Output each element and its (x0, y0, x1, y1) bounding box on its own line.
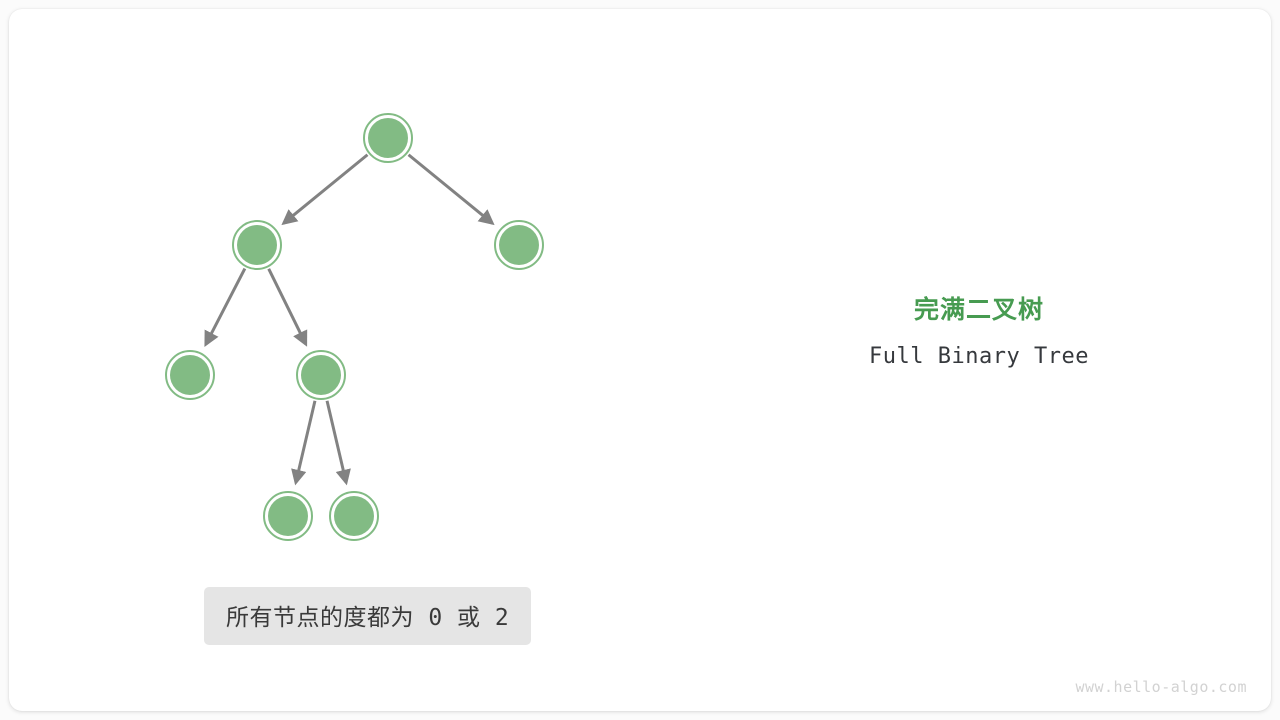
legend-subtitle: Full Binary Tree (799, 342, 1159, 372)
tree-edge (296, 401, 315, 483)
tree-edge (327, 401, 346, 483)
tree-edge (206, 269, 245, 345)
tree-node[interactable] (330, 492, 378, 540)
tree-node[interactable] (264, 492, 312, 540)
page-root: 完满二叉树 Full Binary Tree 所有节点的度都为 0 或 2 ww… (0, 0, 1280, 720)
tree-node[interactable] (495, 221, 543, 269)
tree-node-disc (237, 225, 277, 265)
tree-node-disc (368, 118, 408, 158)
tree-edge-layer (206, 155, 492, 483)
tree-node[interactable] (166, 351, 214, 399)
tree-node-disc (499, 225, 539, 265)
diagram-card: 完满二叉树 Full Binary Tree 所有节点的度都为 0 或 2 ww… (9, 9, 1271, 711)
tree-edge (284, 155, 368, 223)
tree-node[interactable] (297, 351, 345, 399)
watermark: www.hello-algo.com (1075, 678, 1247, 696)
caption-badge: 所有节点的度都为 0 或 2 (204, 587, 531, 645)
tree-node-disc (268, 496, 308, 536)
tree-edge (269, 269, 306, 344)
tree-node-disc (170, 355, 210, 395)
legend-block: 完满二叉树 Full Binary Tree (799, 294, 1159, 372)
tree-node-disc (301, 355, 341, 395)
tree-node[interactable] (364, 114, 412, 162)
tree-node-disc (334, 496, 374, 536)
tree-edge (409, 155, 493, 223)
tree-node-layer (166, 114, 543, 540)
tree-node[interactable] (233, 221, 281, 269)
legend-title: 完满二叉树 (799, 294, 1159, 326)
